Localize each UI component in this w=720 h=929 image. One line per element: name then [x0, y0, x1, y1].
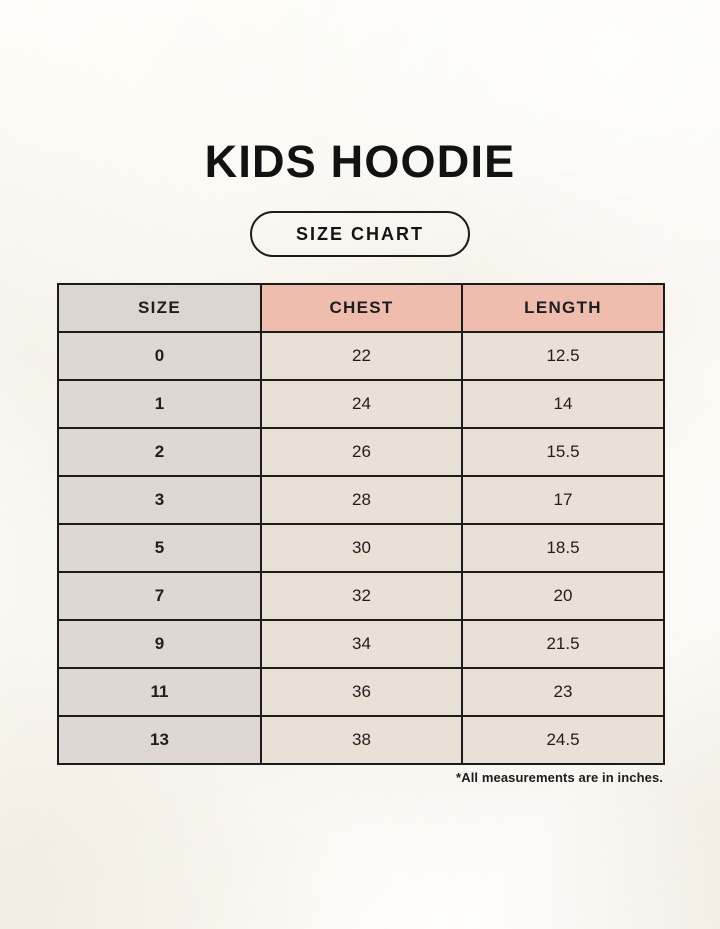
column-header-length: LENGTH: [462, 284, 664, 332]
cell-chest: 30: [261, 524, 462, 572]
cell-size: 3: [58, 476, 261, 524]
cell-chest: 24: [261, 380, 462, 428]
table-row: 32817: [58, 476, 664, 524]
table-row: 133824.5: [58, 716, 664, 764]
column-header-size: SIZE: [58, 284, 261, 332]
cell-length: 17: [462, 476, 664, 524]
cell-chest: 38: [261, 716, 462, 764]
column-header-chest: CHEST: [261, 284, 462, 332]
page-title: KIDS HOODIE: [0, 139, 720, 184]
cell-size: 0: [58, 332, 261, 380]
cell-length: 20: [462, 572, 664, 620]
badge-row: SIZE CHART: [0, 211, 720, 257]
table-row: 73220: [58, 572, 664, 620]
table-header-row: SIZE CHEST LENGTH: [58, 284, 664, 332]
table-row: 12414: [58, 380, 664, 428]
cell-chest: 22: [261, 332, 462, 380]
cell-size: 13: [58, 716, 261, 764]
cell-chest: 34: [261, 620, 462, 668]
table-body: 02212.51241422615.53281753018.5732209342…: [58, 332, 664, 764]
size-table-container: SIZE CHEST LENGTH 02212.51241422615.5328…: [57, 283, 663, 765]
cell-size: 1: [58, 380, 261, 428]
cell-length: 14: [462, 380, 664, 428]
cell-chest: 28: [261, 476, 462, 524]
size-chart-badge: SIZE CHART: [250, 211, 470, 257]
table-row: 22615.5: [58, 428, 664, 476]
cell-chest: 36: [261, 668, 462, 716]
cell-length: 24.5: [462, 716, 664, 764]
cell-size: 9: [58, 620, 261, 668]
page-header: KIDS HOODIE SIZE CHART: [0, 139, 720, 257]
cell-length: 18.5: [462, 524, 664, 572]
table-row: 113623: [58, 668, 664, 716]
cell-size: 7: [58, 572, 261, 620]
cell-chest: 26: [261, 428, 462, 476]
cell-size: 11: [58, 668, 261, 716]
measurement-note: *All measurements are in inches.: [57, 770, 663, 785]
table-row: 93421.5: [58, 620, 664, 668]
cell-size: 5: [58, 524, 261, 572]
cell-length: 21.5: [462, 620, 664, 668]
table-header: SIZE CHEST LENGTH: [58, 284, 664, 332]
cell-size: 2: [58, 428, 261, 476]
table-row: 53018.5: [58, 524, 664, 572]
cell-chest: 32: [261, 572, 462, 620]
cell-length: 23: [462, 668, 664, 716]
cell-length: 15.5: [462, 428, 664, 476]
table-row: 02212.5: [58, 332, 664, 380]
size-chart-page: KIDS HOODIE SIZE CHART SIZE CHEST LENGTH…: [0, 0, 720, 929]
cell-length: 12.5: [462, 332, 664, 380]
size-table: SIZE CHEST LENGTH 02212.51241422615.5328…: [57, 283, 665, 765]
